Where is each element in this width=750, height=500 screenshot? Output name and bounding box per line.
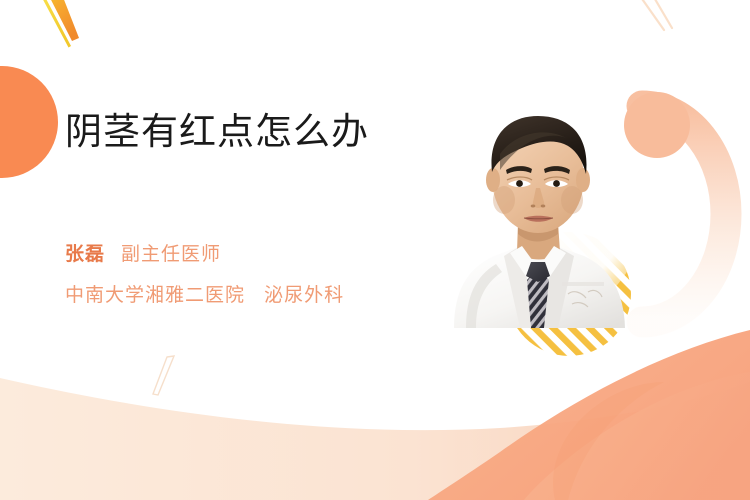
doctor-professional-title: 副主任医师 xyxy=(121,239,221,266)
text-content-block: 阴茎有红点怎么办 张磊 副主任医师 中南大学湘雅二医院 泌尿外科 xyxy=(65,108,465,307)
cheek-shadow-right xyxy=(561,186,583,214)
video-cover-card: 阴茎有红点怎么办 张磊 副主任医师 中南大学湘雅二医院 泌尿外科 xyxy=(0,0,750,500)
page-title: 阴茎有红点怎么办 xyxy=(65,108,465,155)
doctor-hospital: 中南大学湘雅二医院 xyxy=(65,284,245,306)
nostril-left xyxy=(531,205,536,208)
doctor-affiliation-row: 中南大学湘雅二医院 泌尿外科 xyxy=(65,280,465,307)
doctor-pupil-left xyxy=(516,180,523,187)
doctor-pupil-right xyxy=(553,180,560,187)
coat-pocket xyxy=(562,282,604,286)
doctor-credential-row: 张磊 副主任医师 xyxy=(65,239,465,266)
doctor-department: 泌尿外科 xyxy=(264,284,344,306)
doctor-name: 张磊 xyxy=(65,239,105,266)
cheek-shadow-left xyxy=(493,186,515,214)
nostril-right xyxy=(541,205,546,208)
